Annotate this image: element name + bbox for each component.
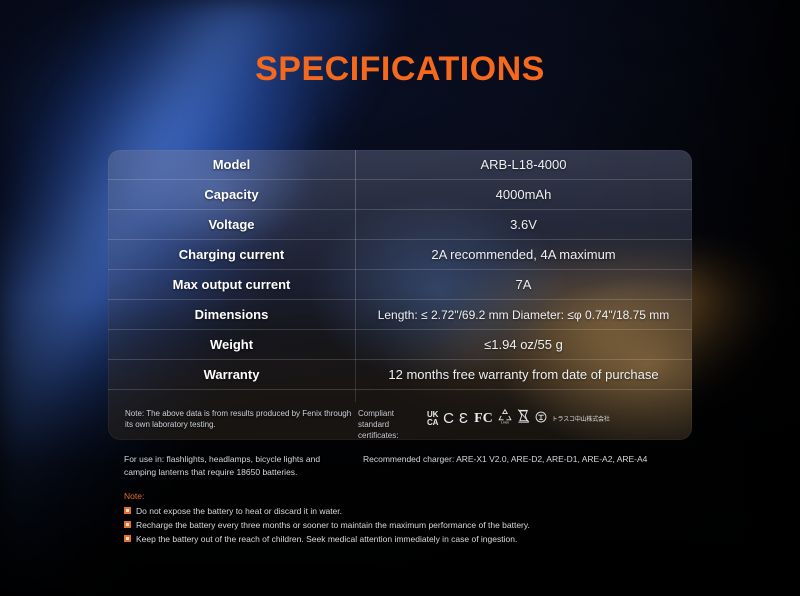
compliance-label: Compliant standard certificates: bbox=[358, 408, 420, 440]
ukca-line-2: CA bbox=[427, 419, 438, 427]
page-title: SPECIFICATIONS bbox=[0, 50, 800, 89]
specifications-panel: Model ARB-L18-4000 Capacity 4000mAh Volt… bbox=[108, 150, 692, 440]
note-list-item: Do not expose the battery to heat or dis… bbox=[124, 505, 724, 517]
table-row: Dimensions Length: ≤ 2.72"/69.2 mm Diame… bbox=[108, 300, 692, 330]
spec-value: 7A bbox=[355, 277, 692, 292]
trusco-logo-icon bbox=[535, 410, 547, 428]
spec-value: ≤1.94 oz/55 g bbox=[355, 337, 692, 352]
weee-bin-icon bbox=[517, 408, 530, 429]
spec-label: Dimensions bbox=[108, 307, 355, 322]
compliance-section: Compliant standard certificates: UK CA C… bbox=[355, 408, 610, 440]
spec-value: ARB-L18-4000 bbox=[355, 157, 692, 172]
trusco-name-label: トラスコ中山株式会社 bbox=[552, 414, 610, 423]
notes-section: Note: Do not expose the battery to heat … bbox=[124, 490, 724, 547]
fcc-icon: FC bbox=[474, 412, 493, 426]
spec-label: Capacity bbox=[108, 187, 355, 202]
spec-label: Voltage bbox=[108, 217, 355, 232]
bullet-square-icon bbox=[124, 535, 131, 542]
table-row: Capacity 4000mAh bbox=[108, 180, 692, 210]
table-row: Model ARB-L18-4000 bbox=[108, 150, 692, 180]
note-list-item: Keep the battery out of the reach of chi… bbox=[124, 533, 724, 545]
bullet-square-icon bbox=[124, 521, 131, 528]
spec-label: Max output current bbox=[108, 277, 355, 292]
note-text: Recharge the battery every three months … bbox=[136, 519, 530, 531]
note-text: Do not expose the battery to heat or dis… bbox=[136, 505, 342, 517]
note-list-item: Recharge the battery every three months … bbox=[124, 519, 724, 531]
notes-heading: Note: bbox=[124, 490, 724, 503]
ukca-icon: UK CA bbox=[427, 411, 438, 427]
laboratory-note: Note: The above data is from results pro… bbox=[108, 408, 355, 430]
spec-value: Length: ≤ 2.72"/69.2 mm Diameter: ≤φ 0.7… bbox=[355, 308, 692, 322]
table-row: Max output current 7A bbox=[108, 270, 692, 300]
table-row: Charging current 2A recommended, 4A maxi… bbox=[108, 240, 692, 270]
usage-text: For use in: flashlights, headlamps, bicy… bbox=[124, 453, 354, 479]
compliance-icons: UK CA C Ɛ FC Li-ion bbox=[427, 408, 610, 429]
table-row: Warranty 12 months free warranty from da… bbox=[108, 360, 692, 390]
specifications-page: SPECIFICATIONS Model ARB-L18-4000 Capaci… bbox=[0, 0, 800, 596]
specifications-table: Model ARB-L18-4000 Capacity 4000mAh Volt… bbox=[108, 150, 692, 440]
spec-value: 2A recommended, 4A maximum bbox=[355, 247, 692, 262]
spec-label: Warranty bbox=[108, 367, 355, 382]
recycle-icon: Li-ion bbox=[498, 408, 512, 429]
spec-value: 12 months free warranty from date of pur… bbox=[355, 367, 692, 382]
table-row: Weight ≤1.94 oz/55 g bbox=[108, 330, 692, 360]
spec-label: Weight bbox=[108, 337, 355, 352]
spec-label: Model bbox=[108, 157, 355, 172]
note-text: Keep the battery out of the reach of chi… bbox=[136, 533, 517, 545]
svg-text:Li-ion: Li-ion bbox=[501, 420, 509, 424]
bullet-square-icon bbox=[124, 507, 131, 514]
spec-value: 3.6V bbox=[355, 217, 692, 232]
table-row: Voltage 3.6V bbox=[108, 210, 692, 240]
spec-value: 4000mAh bbox=[355, 187, 692, 202]
ce-icon: C Ɛ bbox=[443, 411, 469, 426]
recommended-charger-text: Recommended charger: ARE-X1 V2.0, ARE-D2… bbox=[363, 453, 693, 466]
panel-footer: Note: The above data is from results pro… bbox=[108, 404, 692, 440]
spec-label: Charging current bbox=[108, 247, 355, 262]
